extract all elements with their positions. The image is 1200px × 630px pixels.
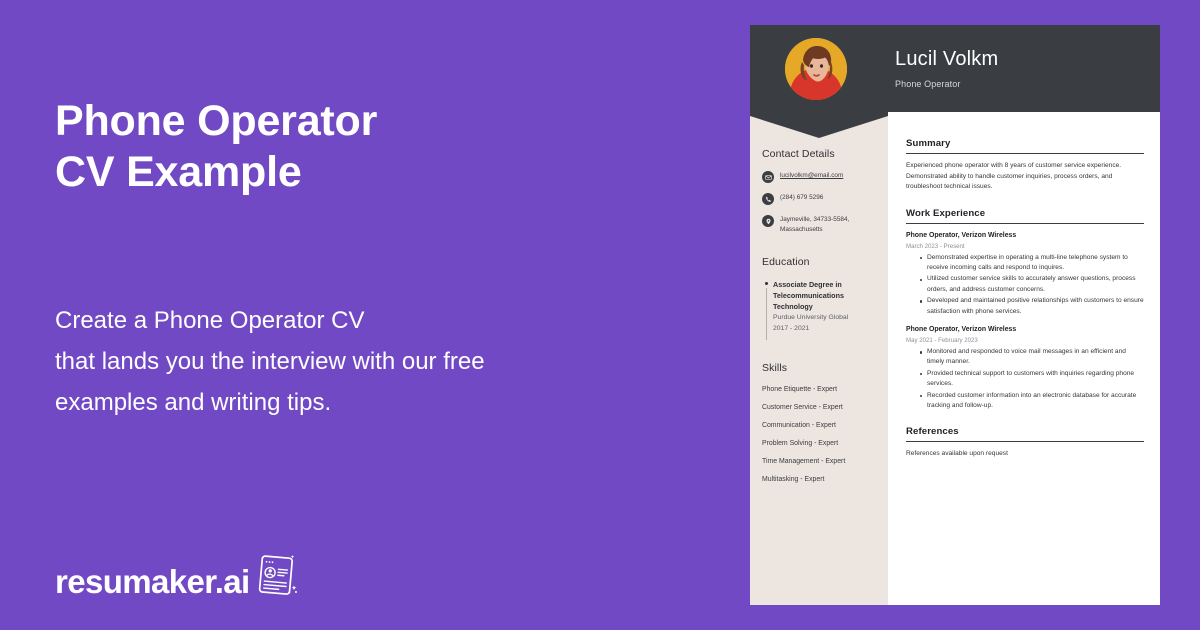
promo-subtitle: Create a Phone Operator CV that lands yo… — [55, 300, 695, 423]
skill-item: Time Management - Expert — [762, 457, 876, 466]
work-experience-item: Phone Operator, Verizon Wireless March 2… — [906, 231, 1144, 317]
job-bullet: Recorded customer information into an el… — [920, 391, 1144, 412]
skill-item: Multitasking - Expert — [762, 475, 876, 484]
job-bullet: Developed and maintained positive relati… — [920, 296, 1144, 317]
job-dates: May 2021 - February 2023 — [906, 336, 1144, 345]
summary-heading: Summary — [906, 138, 1144, 154]
summary-section: Summary Experienced phone operator with … — [906, 138, 1144, 193]
contact-email-text[interactable]: lucilvolkm@email.com — [780, 171, 843, 181]
education-timeline-marker — [762, 279, 770, 340]
job-bullet: Provided technical support to customers … — [920, 369, 1144, 390]
skill-item: Customer Service - Expert — [762, 403, 876, 412]
skill-item: Problem Solving - Expert — [762, 439, 876, 448]
promo-panel: Phone Operator CV Example Create a Phone… — [0, 0, 750, 630]
page-title: Phone Operator CV Example — [55, 96, 695, 198]
references-heading: References — [906, 426, 1144, 442]
resume-name: Lucil Volkm — [895, 47, 998, 71]
job-dates: March 2023 - Present — [906, 242, 1144, 251]
education-heading: Education — [762, 256, 876, 268]
resume-header: Lucil Volkm Phone Operator — [750, 25, 1160, 112]
resume-preview-card[interactable]: Lucil Volkm Phone Operator Contact Detai… — [750, 25, 1160, 605]
job-title: Phone Operator, Verizon Wireless — [906, 325, 1144, 335]
location-pin-icon — [762, 215, 774, 227]
logo-wordmark: resumaker.ai — [55, 564, 250, 600]
resume-role: Phone Operator — [895, 77, 998, 91]
work-experience-section: Work Experience Phone Operator, Verizon … — [906, 208, 1144, 412]
job-bullet: Demonstrated expertise in operating a mu… — [920, 253, 1144, 274]
education-degree: Associate Degree in Telecommunications T… — [773, 279, 876, 312]
work-experience-item: Phone Operator, Verizon Wireless May 202… — [906, 325, 1144, 411]
contact-item-address[interactable]: Jaymeville, 34733-5584, Massachusetts — [762, 215, 876, 234]
envelope-icon — [762, 171, 774, 183]
job-bullet: Monitored and responded to voice mail me… — [920, 347, 1144, 368]
resumaker-logo[interactable]: resumaker.ai — [55, 552, 298, 600]
education-dates: 2017 - 2021 — [773, 324, 876, 335]
skill-item: Phone Etiquette - Expert — [762, 385, 876, 394]
education-item: Associate Degree in Telecommunications T… — [762, 279, 876, 340]
skills-heading: Skills — [762, 362, 876, 374]
job-bullet-list: Demonstrated expertise in operating a mu… — [906, 253, 1144, 317]
summary-text: Experienced phone operator with 8 years … — [906, 161, 1144, 193]
references-text: References available upon request — [906, 449, 1144, 460]
resume-document-icon — [252, 552, 298, 601]
contact-item-phone[interactable]: (284) 679 5296 — [762, 193, 876, 205]
contact-details-section: Contact Details lucilvolkm@email.com — [762, 148, 876, 234]
job-bullet-list: Monitored and responded to voice mail me… — [906, 347, 1144, 411]
education-school: Purdue University Global — [773, 313, 876, 324]
resume-sidebar: Contact Details lucilvolkm@email.com — [750, 112, 888, 605]
avatar — [785, 38, 847, 100]
resume-main-column: Summary Experienced phone operator with … — [888, 112, 1160, 605]
references-section: References References available upon req… — [906, 426, 1144, 460]
contact-details-heading: Contact Details — [762, 148, 876, 160]
skill-item: Communication - Expert — [762, 421, 876, 430]
job-title: Phone Operator, Verizon Wireless — [906, 231, 1144, 241]
job-bullet: Utilized customer service skills to accu… — [920, 274, 1144, 295]
phone-icon — [762, 193, 774, 205]
education-section: Education Associate Degree in Telecommun… — [762, 256, 876, 340]
contact-item-email[interactable]: lucilvolkm@email.com — [762, 171, 876, 183]
contact-phone-text: (284) 679 5296 — [780, 193, 823, 203]
skills-section: Skills Phone Etiquette - Expert Customer… — [762, 362, 876, 484]
contact-address-text: Jaymeville, 34733-5584, Massachusetts — [780, 215, 876, 234]
work-experience-heading: Work Experience — [906, 208, 1144, 224]
